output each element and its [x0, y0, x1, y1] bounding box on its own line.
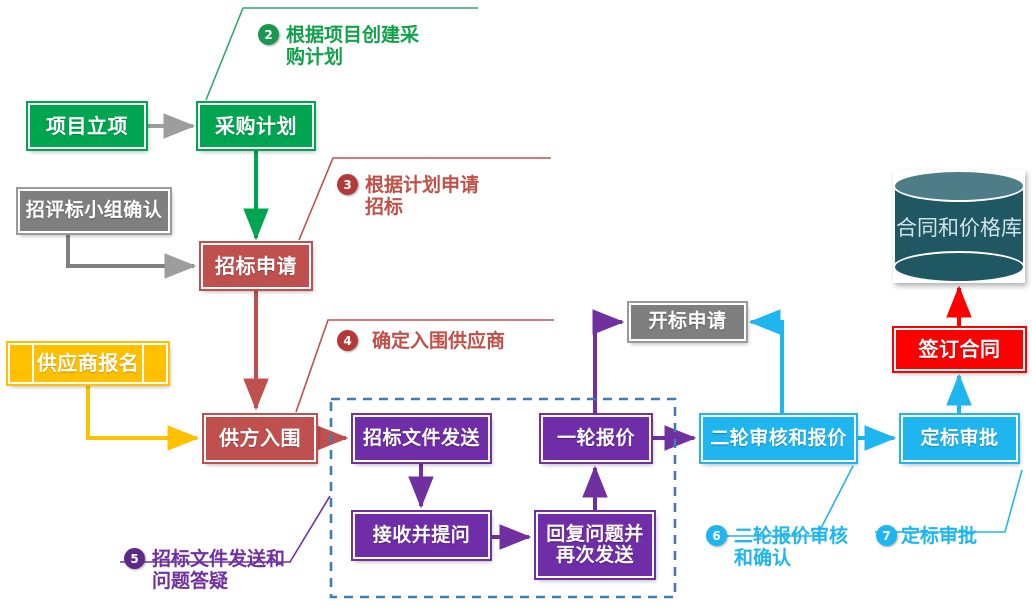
annotation-2: 2 根据项目创建采 购计划 [258, 24, 468, 69]
annotation-text: 根据计划申请 招标 [365, 174, 479, 219]
node-project-initiation[interactable]: 项目立项 [28, 103, 146, 149]
annotation-text: 二轮报价审核 和确认 [734, 525, 848, 570]
node-label: 供方入围 [206, 427, 314, 449]
node-first-round-quote[interactable]: 一轮报价 [541, 415, 651, 462]
node-reply-and-resend[interactable]: 回复问题并 再次发送 [536, 512, 654, 578]
connector-layer [0, 0, 1032, 610]
annotation-number-badge: 6 [706, 525, 727, 546]
annotation-7: 7 定标审批 [876, 525, 1032, 547]
node-label: 招标申请 [203, 255, 309, 277]
node-label: 招评标小组确认 [20, 200, 168, 221]
node-bid-review-group-confirm[interactable]: 招评标小组确认 [18, 189, 170, 233]
annotation-number-badge: 7 [876, 525, 897, 546]
node-label: 项目立项 [30, 115, 144, 137]
node-bid-doc-send[interactable]: 招标文件发送 [353, 415, 490, 462]
node-supplier-registration[interactable]: 供应商报名 [8, 343, 168, 384]
annotation-text: 根据项目创建采 购计划 [286, 24, 419, 69]
node-second-round-review-quote[interactable]: 二轮审核和报价 [701, 415, 856, 462]
node-label: 供应商报名 [10, 352, 166, 374]
node-label: 一轮报价 [543, 428, 649, 449]
edge-secondround-to-bidopening [751, 322, 782, 413]
node-label: 开标申请 [631, 311, 744, 332]
node-supplier-shortlist[interactable]: 供方入围 [204, 415, 316, 462]
flowchart-canvas: 项目立项 采购计划 招评标小组确认 招标申请 供应商报名 供方入围 招标文件发送… [0, 0, 1032, 610]
annotation-6: 6 二轮报价审核 和确认 [706, 525, 876, 570]
node-receive-and-ask[interactable]: 接收并提问 [353, 512, 490, 559]
node-label: 合同和价格库 [893, 212, 1025, 242]
node-label: 定标审批 [903, 428, 1016, 449]
node-contract-price-database[interactable]: 合同和价格库 [893, 170, 1025, 283]
annotation-number-badge: 5 [124, 548, 145, 569]
node-sign-contract[interactable]: 签订合同 [894, 328, 1025, 371]
edge-reviewgroup-to-bidapp [68, 234, 194, 266]
node-label: 回复问题并 再次发送 [538, 524, 652, 567]
annotation-number-badge: 4 [337, 330, 358, 351]
node-label: 接收并提问 [355, 525, 488, 546]
node-bid-application[interactable]: 招标申请 [201, 243, 311, 289]
node-label: 签订合同 [896, 338, 1023, 360]
node-final-award-approval[interactable]: 定标审批 [901, 415, 1018, 462]
annotation-text: 定标审批 [901, 525, 977, 547]
cylinder-bottom-ellipse [893, 251, 1025, 283]
annotation-number-badge: 3 [337, 174, 358, 195]
node-label: 招标文件发送 [355, 428, 488, 449]
node-purchase-plan[interactable]: 采购计划 [198, 103, 314, 149]
annotation-4: 4 确定入围供应商 [337, 330, 577, 352]
annotation-text: 确定入围供应商 [372, 330, 505, 352]
annotation-5: 5 招标文件发送和 问题答疑 [124, 548, 354, 593]
node-bid-opening-application[interactable]: 开标申请 [629, 303, 746, 341]
edge-registration-to-shortlist [88, 384, 197, 438]
node-label: 二轮审核和报价 [703, 428, 854, 449]
leader-line-7 [875, 470, 1022, 532]
annotation-text: 招标文件发送和 问题答疑 [152, 548, 285, 593]
cylinder-top-ellipse [893, 170, 1025, 202]
annotation-number-badge: 2 [258, 24, 279, 45]
annotation-3: 3 根据计划申请 招标 [337, 174, 547, 219]
node-label: 采购计划 [200, 115, 312, 137]
